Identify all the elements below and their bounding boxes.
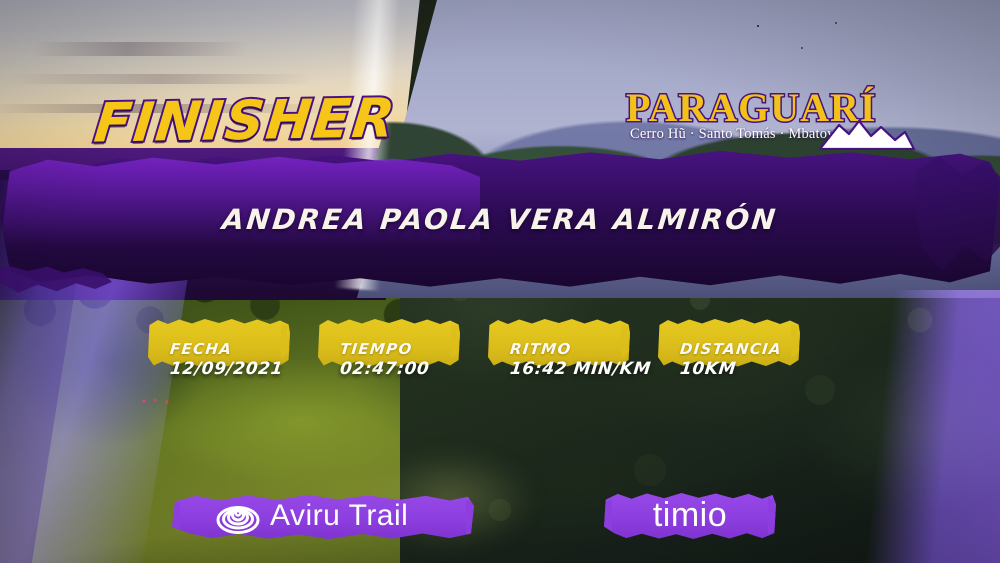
finisher-card: FINISHER PARAGUARÍ Cerro Hũ · Santo Tomá…: [0, 0, 1000, 563]
stat-tiempo: TIEMPO 02:47:00: [318, 318, 460, 398]
spiral-shell-icon: [216, 500, 260, 538]
stat-value: 12/09/2021: [169, 359, 284, 379]
stat-fecha: FECHA 12/09/2021: [148, 318, 290, 398]
timio-logo: timio: [604, 492, 776, 540]
stat-label: RITMO: [509, 340, 572, 358]
stat-value: 10KM: [679, 359, 737, 379]
stat-ritmo: RITMO 16:42 MIN/KM: [488, 318, 630, 398]
mountain-range-icon: [819, 116, 915, 154]
stat-value: 02:47:00: [339, 359, 430, 379]
timio-name: timio: [604, 496, 776, 535]
stat-distancia: DISTANCIA 10KM: [658, 318, 800, 398]
stat-label: FECHA: [169, 340, 233, 358]
athlete-name: ANDREA PAOLA VERA ALMIRÓN: [0, 203, 1000, 236]
paraguari-subtitle: Cerro Hũ · Santo Tomás · Mbatovi: [630, 126, 839, 143]
stat-label: TIEMPO: [339, 340, 413, 358]
stats-row: FECHA 12/09/2021 TIEMPO 02:47:00 RITMO 1…: [148, 318, 868, 398]
finisher-badge-text: FINISHER: [91, 86, 399, 154]
stat-label: DISTANCIA: [679, 340, 783, 358]
stat-value: 16:42 MIN/KM: [509, 359, 652, 379]
aviru-trail-logo: Aviru Trail: [172, 494, 474, 540]
paraguari-logo: PARAGUARÍ Cerro Hũ · Santo Tomás · Mbato…: [626, 88, 926, 158]
birds-silhouette: [740, 18, 860, 68]
aviru-trail-name: Aviru Trail: [270, 499, 408, 533]
